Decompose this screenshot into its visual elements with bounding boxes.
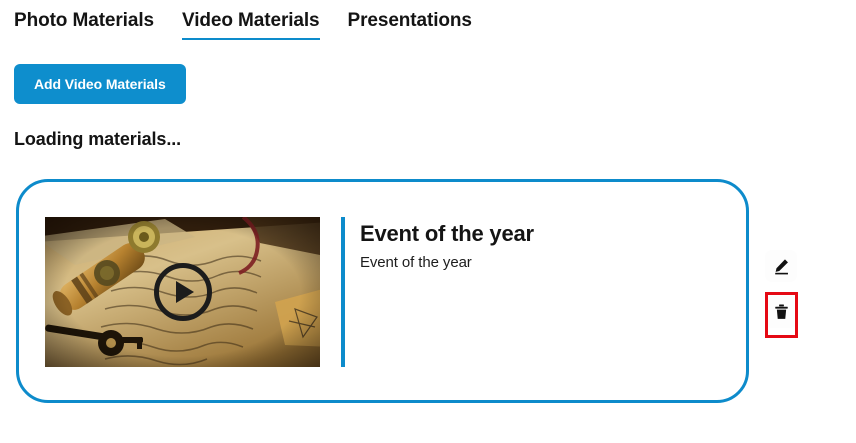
card-text-block: Event of the year Event of the year: [360, 221, 720, 272]
play-triangle: [176, 281, 194, 303]
tab-photo-materials[interactable]: Photo Materials: [14, 10, 154, 40]
card-action-buttons: [765, 250, 799, 328]
tab-video-materials[interactable]: Video Materials: [182, 10, 320, 40]
card-accent-divider: [341, 217, 345, 367]
add-video-materials-button[interactable]: Add Video Materials: [14, 64, 186, 104]
delete-material-button[interactable]: [765, 296, 797, 328]
trash-icon: [774, 304, 789, 320]
card-subtitle: Event of the year: [360, 254, 720, 272]
video-material-card: Event of the year Event of the year: [16, 179, 749, 403]
page-root: Photo Materials Video Materials Presenta…: [0, 0, 856, 443]
loading-status-text: Loading materials...: [14, 129, 181, 150]
card-title: Event of the year: [360, 221, 720, 247]
video-thumbnail[interactable]: [45, 217, 320, 367]
play-icon[interactable]: [154, 263, 212, 321]
materials-tab-bar: Photo Materials Video Materials Presenta…: [14, 10, 500, 40]
edit-material-button[interactable]: [765, 250, 797, 282]
tab-presentations[interactable]: Presentations: [348, 10, 472, 40]
pencil-icon: [773, 258, 790, 275]
